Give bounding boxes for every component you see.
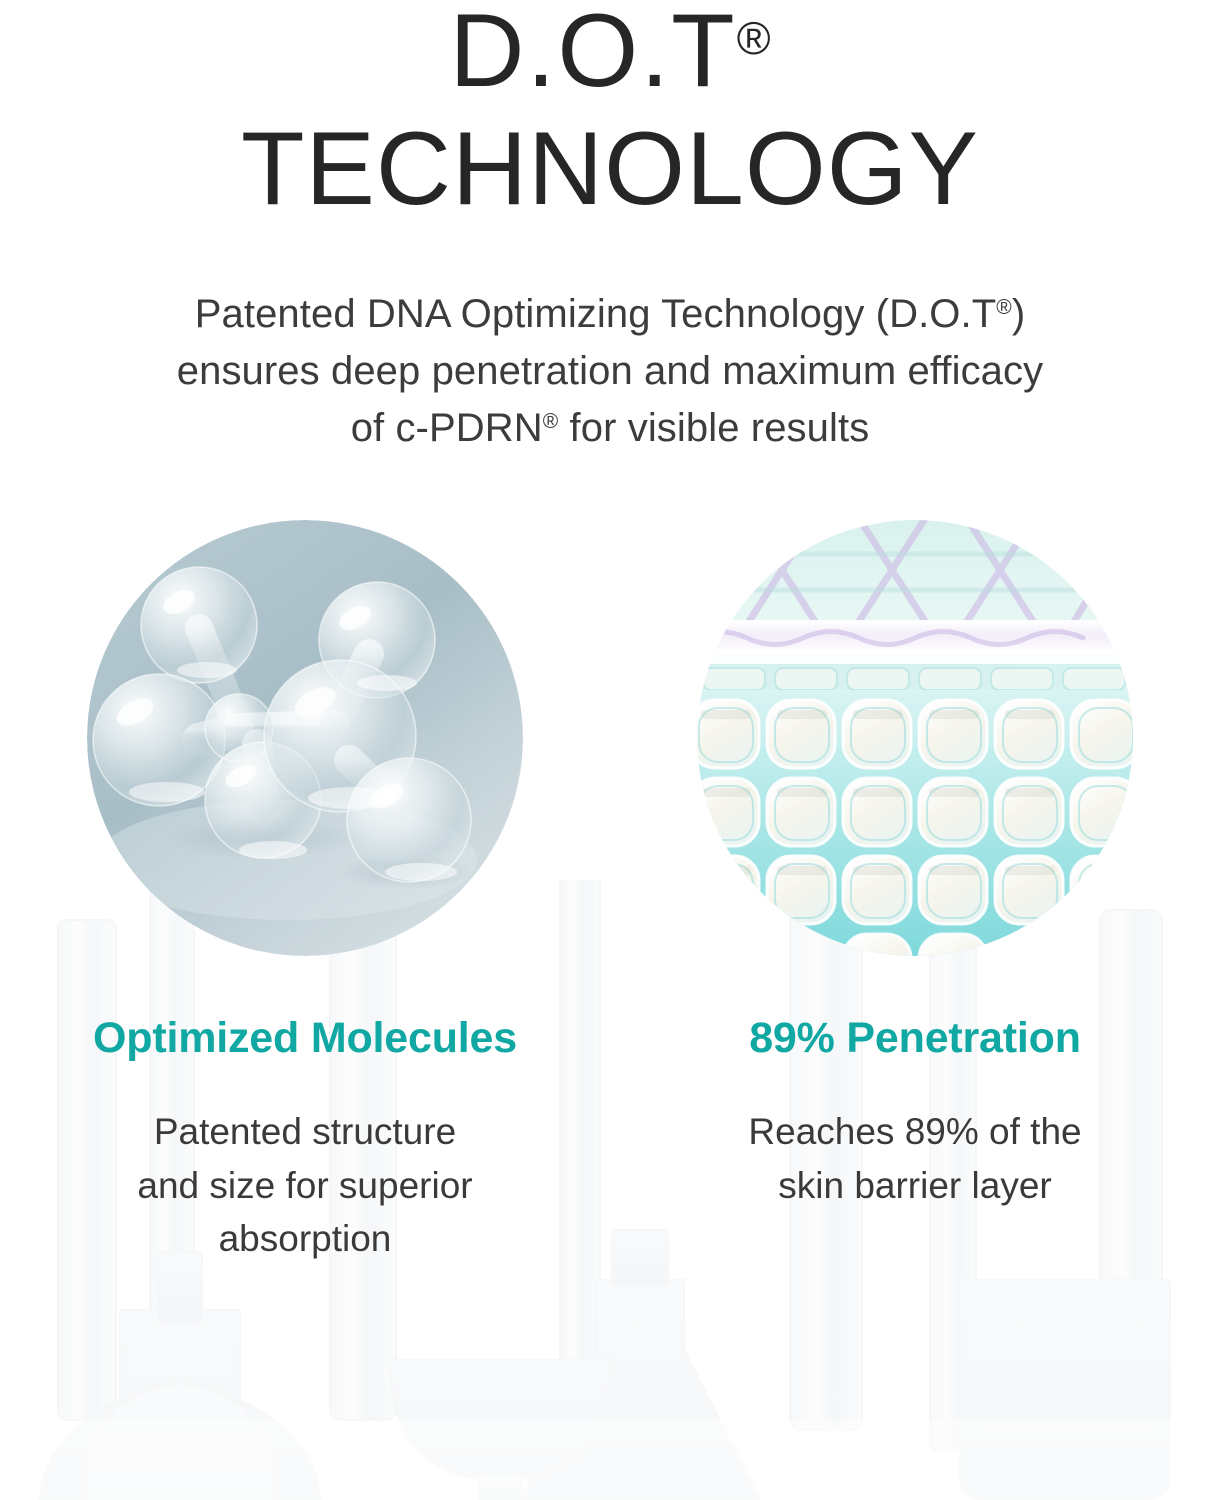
registered-trademark-icon: ® (543, 410, 559, 433)
skin-barrier-cells-illustration (697, 520, 1133, 956)
subtitle-line-2: ensures deep penetration and maximum eff… (0, 343, 1220, 400)
feature-body-line-1: Patented structure (137, 1105, 472, 1158)
page-subtitle: Patented DNA Optimizing Technology (D.O.… (0, 286, 1220, 456)
feature-body-penetration: Reaches 89% of the skin barrier layer (748, 1105, 1081, 1212)
subtitle-line-1-text: Patented DNA Optimizing Technology (D.O.… (195, 292, 997, 336)
page-title-line-1: D.O.T® (0, 2, 1220, 102)
feature-column-optimized-molecules: Optimized Molecules Patented structure a… (0, 520, 610, 1265)
header: D.O.T® TECHNOLOGY Patented DNA Optimizin… (0, 0, 1220, 456)
infographic-page: D.O.T® TECHNOLOGY Patented DNA Optimizin… (0, 0, 1220, 1500)
feature-column-penetration: 89% Penetration Reaches 89% of the skin … (610, 520, 1220, 1265)
subtitle-line-1: Patented DNA Optimizing Technology (D.O.… (0, 286, 1220, 343)
molecule-illustration (87, 520, 523, 956)
subtitle-line-3: of c-PDRN® for visible results (0, 400, 1220, 457)
page-title-text: D.O.T (449, 0, 736, 109)
feature-body-optimized-molecules: Patented structure and size for superior… (137, 1105, 472, 1265)
subtitle-line-3-text-a: of c-PDRN (351, 406, 543, 450)
registered-trademark-icon: ® (737, 12, 771, 64)
feature-columns: Optimized Molecules Patented structure a… (0, 520, 1220, 1265)
feature-body-line-3: absorption (137, 1212, 472, 1265)
feature-heading-penetration: 89% Penetration (749, 1014, 1081, 1063)
feature-body-line-2: skin barrier layer (748, 1159, 1081, 1212)
page-title-line-2: TECHNOLOGY (0, 116, 1220, 222)
registered-trademark-icon: ® (996, 296, 1012, 319)
feature-body-line-2: and size for superior (137, 1159, 472, 1212)
subtitle-line-3-text-b: for visible results (558, 406, 869, 450)
feature-heading-optimized-molecules: Optimized Molecules (93, 1014, 517, 1063)
feature-body-line-1: Reaches 89% of the (748, 1105, 1081, 1158)
subtitle-line-1-close-paren: ) (1012, 292, 1025, 336)
